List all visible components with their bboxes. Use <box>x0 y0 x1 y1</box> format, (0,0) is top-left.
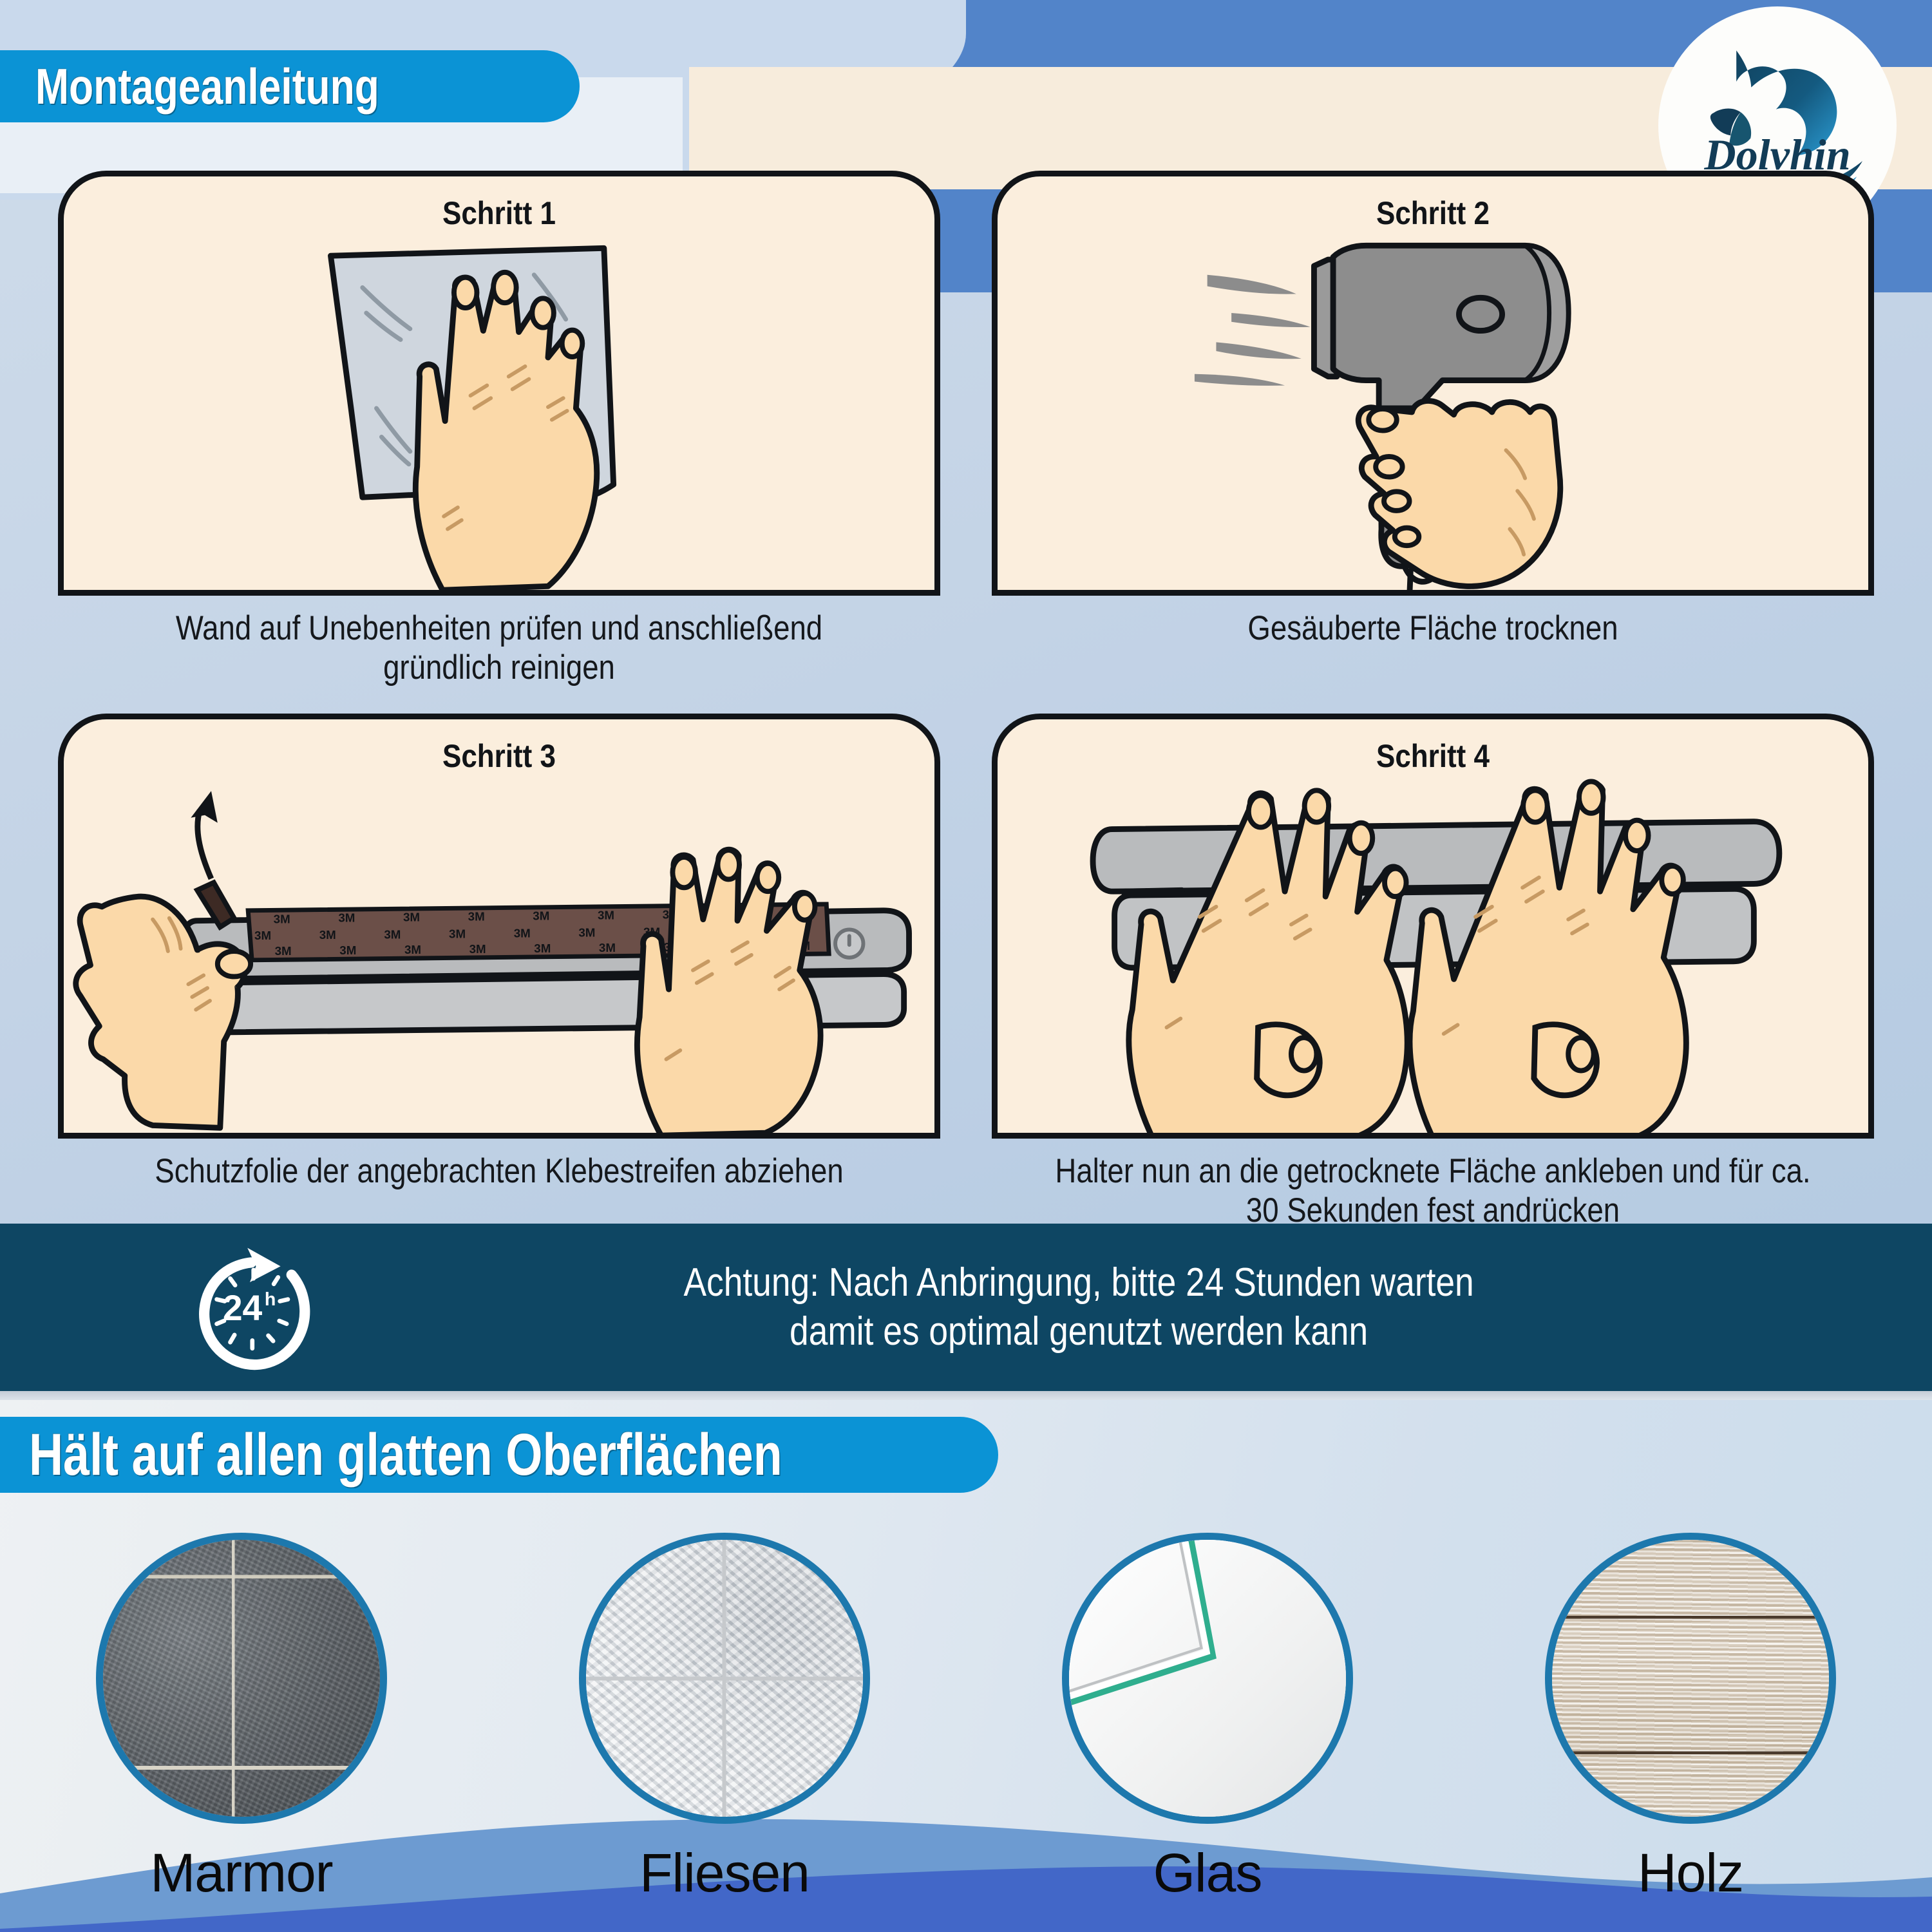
surface-circle-fliesen <box>579 1533 870 1824</box>
steps-row-1: Schritt 1 <box>0 171 1932 688</box>
surface-label-marmor: Marmor <box>48 1842 435 1904</box>
step-3-caption: Schutzfolie der angebrachten Klebestreif… <box>120 1151 878 1191</box>
svg-text:3M: 3M <box>254 929 271 942</box>
step-1-caption: Wand auf Unebenheiten prüfen und anschli… <box>120 609 878 688</box>
svg-text:3M: 3M <box>534 942 551 955</box>
clock-hours-value: 24 <box>223 1288 263 1328</box>
svg-text:3M: 3M <box>319 928 336 942</box>
step-card-4: Schritt 4 <box>992 714 1874 1231</box>
svg-text:3M: 3M <box>274 913 290 926</box>
warning-line-1: Achtung: Nach Anbringung, bitte 24 Stund… <box>438 1258 1720 1307</box>
svg-text:3M: 3M <box>533 909 549 923</box>
svg-text:3M: 3M <box>599 941 616 954</box>
svg-text:3M: 3M <box>449 927 466 940</box>
warning-line-2: damit es optimal genutzt werden kann <box>438 1307 1720 1356</box>
surfaces-title: Hält auf allen glatten Oberflächen <box>29 1421 782 1489</box>
hand-wiping-with-cloth-icon <box>64 215 934 596</box>
surface-item-marmor: Marmor <box>48 1533 435 1904</box>
surface-item-holz: Holz <box>1497 1533 1884 1904</box>
marble-texture-icon <box>103 1540 380 1817</box>
step-card-1: Schritt 1 <box>58 171 940 688</box>
clock-hours-unit: h <box>265 1289 276 1310</box>
wood-texture-icon <box>1552 1540 1829 1817</box>
surface-label-fliesen: Fliesen <box>531 1842 918 1904</box>
step-card-3: Schritt 3 3M3M3M 3M3M3M 3M3M3M <box>58 714 940 1231</box>
svg-text:3M: 3M <box>339 943 356 957</box>
warning-bar: 24 h Achtung: Nach Anbringung, bitte 24 … <box>0 1224 1932 1391</box>
surfaces-banner: Hält auf allen glatten Oberflächen <box>0 1417 998 1493</box>
step-card-2: Schritt 2 <box>992 171 1874 688</box>
svg-text:3M: 3M <box>469 942 486 956</box>
24h-clock-arrow-icon: 24 h <box>187 1243 325 1372</box>
svg-text:3M: 3M <box>338 911 355 925</box>
svg-text:3M: 3M <box>403 911 420 924</box>
steps-row-2: Schritt 3 3M3M3M 3M3M3M 3M3M3M <box>0 714 1932 1231</box>
surface-circle-marmor <box>96 1533 387 1824</box>
svg-text:3M: 3M <box>468 910 485 923</box>
tile-texture-icon <box>586 1540 863 1817</box>
warning-text: Achtung: Nach Anbringung, bitte 24 Stund… <box>438 1258 1820 1356</box>
step-2-illustration-panel: Schritt 2 <box>992 171 1874 596</box>
svg-text:3M: 3M <box>404 943 421 956</box>
glass-texture-icon <box>1069 1540 1346 1817</box>
svg-text:3M: 3M <box>514 926 531 940</box>
surface-item-glas: Glas <box>1014 1533 1401 1904</box>
peeling-adhesive-liner-icon: 3M3M3M 3M3M3M 3M3M3M 3M3M3M 3M3M3M 3M3M3… <box>64 758 934 1139</box>
surfaces-list: Marmor Fliesen <box>0 1533 1932 1904</box>
step-3-illustration-panel: Schritt 3 3M3M3M 3M3M3M 3M3M3M <box>58 714 940 1139</box>
step-4-illustration-panel: Schritt 4 <box>992 714 1874 1139</box>
svg-text:3M: 3M <box>578 925 595 939</box>
infographic-page: Montageanleitung Dolvhin <box>0 0 1932 1932</box>
surface-label-holz: Holz <box>1497 1842 1884 1904</box>
svg-text:3M: 3M <box>598 909 614 922</box>
step-1-illustration-panel: Schritt 1 <box>58 171 940 596</box>
step-4-caption: Halter nun an die getrocknete Fläche ank… <box>1054 1151 1812 1231</box>
header-banner: Montageanleitung <box>0 50 580 122</box>
surface-circle-glas <box>1062 1533 1353 1824</box>
surface-circle-holz <box>1545 1533 1836 1824</box>
warning-bar-bottom-strip <box>0 1391 1932 1400</box>
svg-text:3M: 3M <box>275 944 292 958</box>
steps-section: Schritt 1 <box>0 171 1932 1231</box>
svg-text:3M: 3M <box>384 927 401 941</box>
page-title: Montageanleitung <box>35 57 379 116</box>
two-hands-pressing-rail-icon <box>998 758 1868 1139</box>
surface-label-glas: Glas <box>1014 1842 1401 1904</box>
hand-holding-hairdryer-icon <box>998 215 1868 596</box>
surface-item-fliesen: Fliesen <box>531 1533 918 1904</box>
step-2-caption: Gesäuberte Fläche trocknen <box>1054 609 1812 648</box>
